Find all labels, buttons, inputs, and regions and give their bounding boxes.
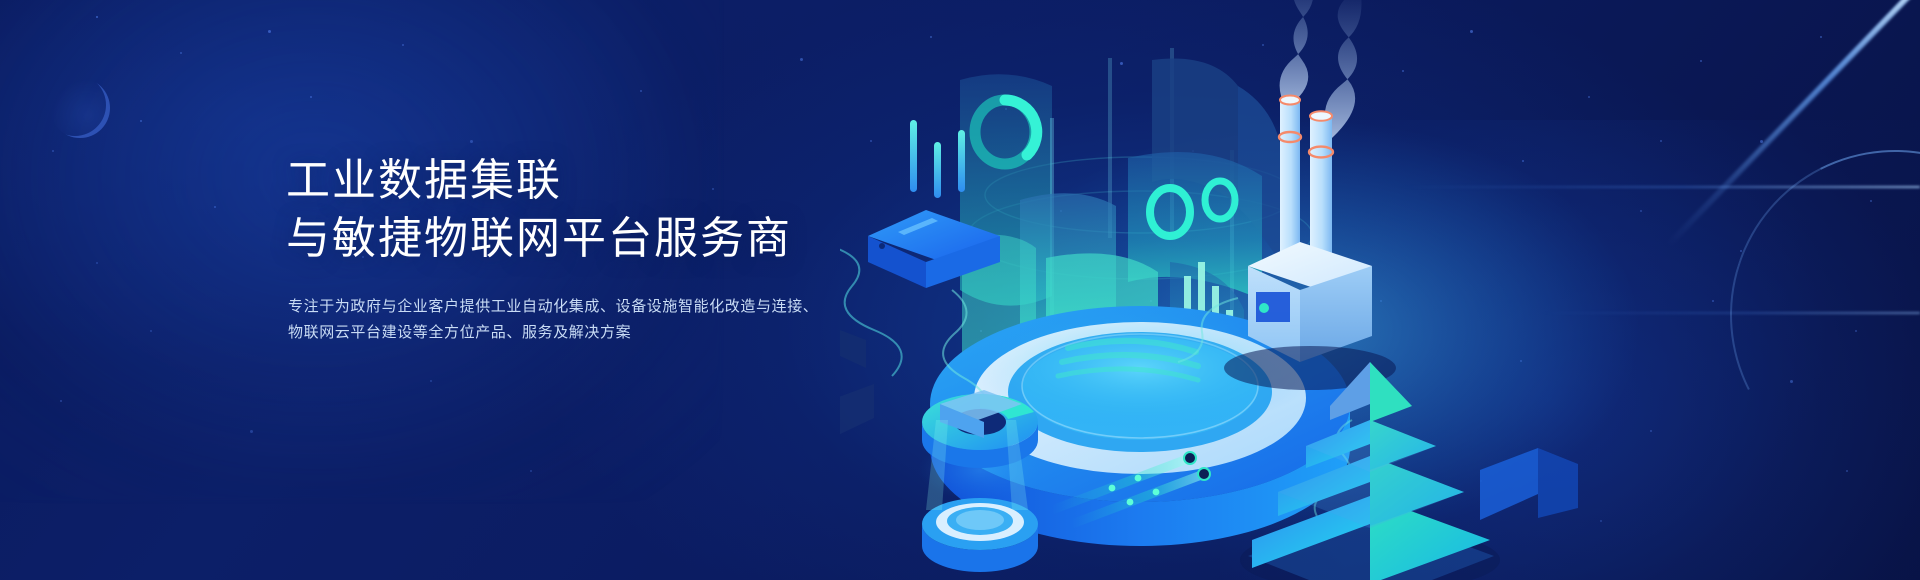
chimney [1310,116,1332,266]
beam-dot [1109,485,1116,492]
smoke-plume [1280,0,1314,108]
star [180,52,182,54]
star [402,44,404,46]
star [530,470,532,472]
headline-line-2: 与敏捷物联网平台服务商 [286,210,926,268]
beam-node [1184,452,1196,464]
star [430,380,432,382]
star [140,120,142,122]
router-antennas [910,120,965,198]
star [268,30,271,33]
subtitle-line-1: 专注于为政府与企业客户提供工业自动化集成、设备设施智能化改造与连接、 [288,294,818,320]
hero-banner: 工业数据集联 与敏捷物联网平台服务商 专注于为政府与企业客户提供工业自动化集成、… [0,0,1920,580]
star [96,16,98,18]
headline-line-1: 工业数据集联 [286,152,926,210]
subtitle-line-2: 物联网云平台建设等全方位产品、服务及解决方案 [288,320,818,346]
beam-dot [1127,499,1134,506]
page-title: 工业数据集联 与敏捷物联网平台服务商 [286,152,926,268]
star [150,330,152,332]
shard-cube [840,384,874,436]
shard-cube [840,330,866,368]
beam-dot [1135,475,1142,482]
star [800,58,803,61]
star [214,206,216,208]
hero-subtitle: 专注于为政府与企业客户提供工业自动化集成、设备设施智能化改造与连接、 物联网云平… [288,294,818,346]
hero-copy: 工业数据集联 与敏捷物联网平台服务商 专注于为政府与企业客户提供工业自动化集成、… [286,152,926,346]
star [52,150,54,152]
star [60,400,62,402]
chimney [1280,100,1300,258]
beam-node [1198,468,1210,480]
factory-indicator [1259,303,1269,313]
panel-shard [1538,448,1578,518]
star [310,96,312,98]
star [1820,36,1822,38]
beam-dot [1153,489,1160,496]
small-disc-ring-inner [956,510,1004,530]
illustration-svg [840,0,1740,580]
star [470,140,473,143]
router-led [879,243,885,249]
star [250,430,253,433]
star [96,262,98,264]
star [640,90,642,92]
hero-illustration [840,0,1740,580]
